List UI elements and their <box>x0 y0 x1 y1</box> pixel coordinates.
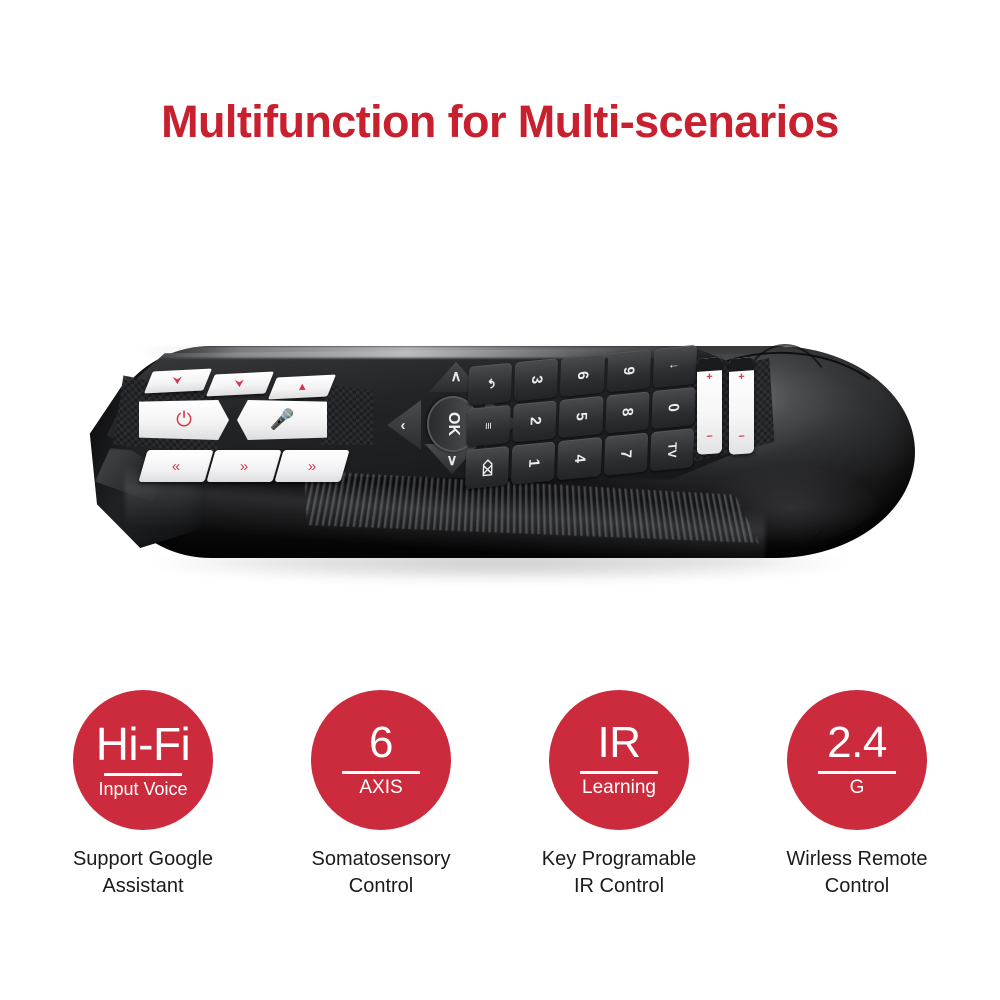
badge-ir-value: IR <box>598 721 641 767</box>
chevron-left-icon: ‹ <box>401 417 406 434</box>
numeric-keypad: ↶369↓≡2580⌫147TV <box>465 345 697 489</box>
double-chevron-up-icon: » <box>308 459 316 474</box>
badge-divider <box>342 771 420 774</box>
badge-axis-value: 6 <box>369 721 393 767</box>
menu-key-label: ≡ <box>481 422 495 430</box>
mute-button[interactable]: « <box>138 450 213 482</box>
key-2[interactable]: 2 <box>513 400 558 443</box>
feature-axis: 6AXISSomatosensory Control <box>281 690 481 900</box>
back-key[interactable]: ↶ <box>468 363 513 406</box>
delete-key[interactable]: ⌫ <box>465 446 510 489</box>
double-chevron-up-icon: « <box>172 459 180 474</box>
page-title: Multifunction for Multi-scenarios <box>0 96 1000 148</box>
volume-rocker[interactable]: + – <box>697 357 722 455</box>
chevron-up-icon: ∧ <box>451 367 462 385</box>
shortcut-key-3[interactable]: ▲ <box>268 374 336 399</box>
carbon-fiber-panel-mid <box>321 383 373 451</box>
feature-wireless-caption: Wirless Remote Control <box>786 846 927 900</box>
feature-hifi: Hi-FiInput VoiceSupport Google Assistant <box>43 690 243 900</box>
key-8[interactable]: 8 <box>605 391 650 434</box>
tv-key[interactable]: TV <box>650 428 695 471</box>
key-4[interactable]: 4 <box>557 437 602 480</box>
shortcut-key-1[interactable]: ⮟ <box>144 368 212 393</box>
key-5-label: 5 <box>572 412 589 422</box>
down-key[interactable]: ↓ <box>653 345 698 388</box>
key-0[interactable]: 0 <box>651 387 696 430</box>
badge-divider <box>104 773 182 776</box>
plus-icon: + <box>729 371 754 384</box>
menu-key[interactable]: ≡ <box>466 404 511 447</box>
microphone-icon: 🎤 <box>270 410 295 430</box>
key-2-label: 2 <box>526 416 543 426</box>
badge-divider <box>580 771 658 774</box>
shortcut-key-2[interactable]: ⮟ <box>206 371 274 396</box>
back-key-label: ↶ <box>483 378 497 389</box>
chevron-down-icon: ∨ <box>447 451 458 469</box>
key-1-label: 1 <box>525 458 542 468</box>
volume-down-button[interactable]: » <box>206 450 281 482</box>
double-chevron-down-icon: » <box>240 459 248 474</box>
key-6-label: 6 <box>574 370 591 380</box>
key-7-label: 7 <box>617 449 634 459</box>
key-3[interactable]: 3 <box>514 358 559 401</box>
key-6[interactable]: 6 <box>560 354 605 397</box>
shortcut-3-icon: ▲ <box>296 381 307 392</box>
shortcut-1-icon: ⮟ <box>173 375 183 386</box>
plus-icon: + <box>697 371 722 384</box>
key-7[interactable]: 7 <box>603 433 648 476</box>
badge-divider <box>818 771 896 774</box>
minus-icon: – <box>729 430 754 443</box>
key-0-label: 0 <box>665 403 682 413</box>
volume-up-button[interactable]: » <box>274 450 349 482</box>
feature-badge-row: Hi-FiInput VoiceSupport Google Assistant… <box>0 690 1000 900</box>
badge-hifi-subtitle: Input Voice <box>98 780 187 800</box>
product-feature-page: Multifunction for Multi-scenarios ⮟ <box>0 0 1000 1000</box>
feature-ir-caption: Key Programable IR Control <box>542 846 697 900</box>
voice-mic-button[interactable]: 🎤 <box>237 400 327 440</box>
key-9-label: 9 <box>620 366 637 376</box>
badge-wireless: 2.4G <box>787 690 927 830</box>
badge-wireless-value: 2.4 <box>827 721 887 767</box>
power-icon: ⏻ <box>176 410 192 430</box>
rocker-cap <box>729 357 754 372</box>
badge-wireless-subtitle: G <box>850 778 865 799</box>
key-9[interactable]: 9 <box>606 349 651 392</box>
key-4-label: 4 <box>571 454 588 464</box>
dpad-left-button[interactable]: ‹ <box>385 400 421 450</box>
badge-ir-subtitle: Learning <box>582 778 656 799</box>
delete-key-label: ⌫ <box>480 459 495 477</box>
feature-wireless: 2.4GWirless Remote Control <box>757 690 957 900</box>
badge-hifi-value: Hi-Fi <box>96 721 191 769</box>
badge-hifi: Hi-FiInput Voice <box>73 690 213 830</box>
feature-axis-caption: Somatosensory Control <box>312 846 451 900</box>
channel-rocker[interactable]: + – <box>729 357 754 455</box>
key-3-label: 3 <box>528 375 545 385</box>
badge-ir: IRLearning <box>549 690 689 830</box>
remote-control-device: ⮟ ⮟ ▲ ⏻ 🎤 « » » <box>85 338 915 570</box>
feature-ir: IRLearningKey Programable IR Control <box>519 690 719 900</box>
key-8-label: 8 <box>619 408 636 418</box>
key-1[interactable]: 1 <box>511 442 556 485</box>
key-5[interactable]: 5 <box>559 396 604 439</box>
down-key-label: ↓ <box>668 363 682 370</box>
badge-axis-subtitle: AXIS <box>359 778 402 799</box>
shortcut-2-icon: ⮟ <box>235 378 245 389</box>
power-button[interactable]: ⏻ <box>139 400 229 440</box>
rocker-cap <box>697 357 722 372</box>
product-image-stage: ⮟ ⮟ ▲ ⏻ 🎤 « » » <box>0 300 1000 620</box>
badge-axis: 6AXIS <box>311 690 451 830</box>
tv-key-label: TV <box>665 442 680 459</box>
minus-icon: – <box>697 430 722 443</box>
feature-hifi-caption: Support Google Assistant <box>73 846 213 900</box>
